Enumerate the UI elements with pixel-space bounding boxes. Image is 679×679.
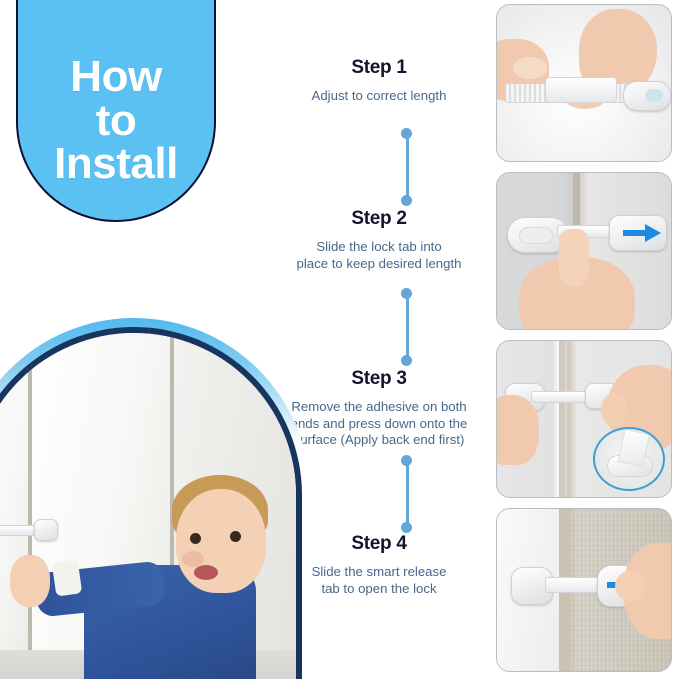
connector-3-4 bbox=[401, 455, 413, 533]
strap-smooth-section bbox=[545, 77, 617, 103]
how-to-install-infographic: How to Install Step 1 Adjust to correct … bbox=[0, 0, 679, 679]
how-to-install-badge: How to Install bbox=[16, 0, 216, 222]
step-2-desc-line-1: Slide the lock tab into bbox=[272, 239, 486, 256]
step-photos-column bbox=[490, 0, 679, 679]
baby-eye-left bbox=[190, 533, 201, 544]
step-3-photo bbox=[496, 340, 672, 498]
step-3-photo-scene bbox=[497, 341, 671, 497]
step-2-description: Slide the lock tab into place to keep de… bbox=[268, 239, 490, 272]
baby-eye-right bbox=[230, 531, 241, 542]
adhesive-peel-callout bbox=[593, 427, 665, 491]
baby-sleeve-cuff bbox=[52, 559, 82, 596]
connector-1-2 bbox=[401, 128, 413, 206]
baby-hand bbox=[10, 555, 50, 607]
hero-arch-frame bbox=[0, 318, 310, 679]
step-2-desc-line-2: place to keep desired length bbox=[272, 256, 486, 273]
installed-lock-right-pad bbox=[34, 519, 58, 541]
baby-mouth bbox=[194, 565, 218, 580]
connector-line bbox=[406, 460, 409, 528]
step-2-title: Step 2 bbox=[268, 208, 490, 230]
step-2-photo-scene bbox=[497, 173, 671, 329]
connector-dot-bottom bbox=[401, 522, 412, 533]
badge-line-1: How bbox=[70, 55, 161, 99]
index-finger bbox=[559, 229, 589, 287]
badge-line-2: to bbox=[96, 99, 137, 143]
step-2-block: Step 2 Slide the lock tab into place to … bbox=[268, 208, 490, 272]
left-pad-slot bbox=[519, 227, 553, 244]
step-1-description: Adjust to correct length bbox=[268, 88, 490, 105]
connector-2-3 bbox=[401, 288, 413, 366]
lock-strap bbox=[531, 391, 593, 403]
step-1-photo-scene bbox=[497, 5, 671, 161]
left-thumb bbox=[513, 57, 547, 79]
left-hand bbox=[496, 395, 539, 465]
step-4-photo bbox=[496, 508, 672, 672]
step-1-title: Step 1 bbox=[268, 57, 490, 79]
step-1-block: Step 1 Adjust to correct length bbox=[268, 57, 490, 105]
step-2-photo bbox=[496, 172, 672, 330]
right-thumb bbox=[601, 393, 627, 427]
thumb bbox=[615, 571, 645, 601]
lock-button bbox=[645, 89, 663, 102]
badge-shape: How to Install bbox=[16, 0, 216, 222]
cabinet-seam bbox=[559, 341, 565, 497]
baby-head bbox=[176, 489, 266, 593]
baby-at-locked-cabinet-photo bbox=[0, 333, 296, 679]
connector-line bbox=[406, 133, 409, 201]
badge-line-3: Install bbox=[54, 142, 178, 186]
connector-dot-bottom bbox=[401, 355, 412, 366]
step-1-desc-line-1: Adjust to correct length bbox=[272, 88, 486, 105]
connector-dot-bottom bbox=[401, 195, 412, 206]
step-4-photo-scene bbox=[497, 509, 671, 671]
slide-arrow-icon bbox=[623, 223, 663, 243]
step-1-photo bbox=[496, 4, 672, 162]
connector-line bbox=[406, 293, 409, 361]
